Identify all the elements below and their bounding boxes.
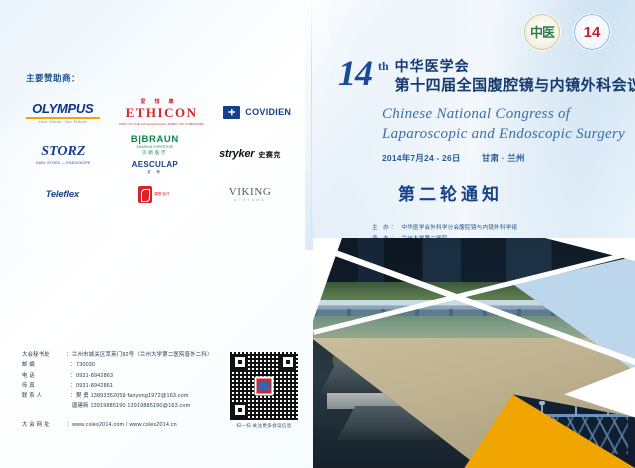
congress-date: 2014年7月24 - 26日 (382, 153, 461, 163)
contact-value-person-sub: 唐建新 13919885190 13919885190@163.com (72, 401, 222, 411)
contact-value-website[interactable]: www.csles2014.com / www.csles2014.cn (72, 420, 177, 430)
stryker-name-cn: 史赛克 (258, 150, 281, 160)
kangji-mark-icon (138, 186, 152, 203)
contact-key-secretariat: 大会秘书处 (22, 350, 66, 360)
contact-key-fax: 传 真 (22, 381, 70, 391)
bbraun-logo: B|BRAUN SHARING EXPERTISE 贝朗医疗 (131, 134, 179, 156)
chinese-medical-association-emblem: 中医 (524, 14, 560, 50)
contact-key-postcode: 邮 编 (22, 360, 70, 370)
contact-row-website: 大会网址 ： www.csles2014.com / www.csles2014… (22, 420, 222, 430)
sponsor-logo-row-2: STORZ KARL STORZ — ENDOSKOPE B|BRAUN SHA… (16, 132, 301, 176)
viking-wordmark: VIKING (229, 186, 272, 198)
organizer-label-host: 主 办： (372, 224, 398, 233)
aesculap-tagline: 蛇 牌 (147, 169, 162, 174)
aesculap-logo: AESCULAP 蛇 牌 (132, 160, 178, 174)
emblem-number: 14 (584, 24, 601, 41)
ethicon-name-cn: 爱惜康 (141, 98, 183, 105)
olympus-logo: OLYMPUS Your Vision, Our Future (26, 101, 100, 124)
contact-value-fax: 0931-8942861 (76, 381, 113, 391)
edition-suffix: th (378, 59, 389, 74)
contact-row-phone: 电 话 ： 0931-8942863 (22, 371, 222, 381)
edition-number: 14 (338, 57, 372, 89)
stryker-wordmark: stryker (219, 148, 254, 160)
viking-tagline: SYSTEMS (234, 198, 266, 202)
contact-key-website: 大会网址 (22, 420, 66, 430)
bbraun-tagline: SHARING EXPERTISE (137, 145, 174, 149)
qr-code-caption: 扫一扫 关注更多会议信息 (228, 423, 300, 429)
emblem-row: 中医 14 (524, 14, 610, 50)
contact-value-postcode: 730030 (76, 360, 95, 370)
contact-value-secretariat: 兰州市城关区萃英门82号（兰州大学第二医院普外二科） (72, 350, 213, 360)
contact-row-secretariat: 大会秘书处 ： 兰州市城关区萃英门82号（兰州大学第二医院普外二科） (22, 350, 222, 360)
congress-emblem: 14 (574, 14, 610, 50)
header-block: 14 th 中华医学会 第十四届全国腹腔镜与内镜外科会议 Chinese Nat… (338, 57, 630, 205)
aesculap-wordmark: AESCULAP (132, 160, 178, 169)
date-location-line: 2014年7月24 - 26日 甘肃 · 兰州 (382, 152, 630, 164)
sponsor-logo-row-1: OLYMPUS Your Vision, Our Future 爱惜康 ETHI… (16, 92, 301, 132)
kangji-name-cn: 康基 医疗 (154, 192, 169, 196)
qr-center-logo-icon (255, 377, 274, 396)
congress-title-cn: 第十四届全国腹腔镜与内镜外科会议 (395, 76, 635, 96)
ethicon-logo: 爱惜康 ETHICON PART OF THE Johnson&Johnson … (119, 98, 204, 126)
olympus-tagline: Your Vision, Our Future (38, 120, 87, 124)
olympus-accent-bar (26, 117, 100, 119)
title-cn-lines: 中华医学会 第十四届全国腹腔镜与内镜外科会议 (395, 58, 635, 95)
qr-code-block: 扫一扫 关注更多会议信息 (228, 352, 300, 429)
conference-brochure-poster: 中医 14 14 th 中华医学会 第十四届全国腹腔镜与内镜外科会议 Chine… (0, 0, 635, 468)
qr-finder-top-right (280, 354, 296, 370)
round-notice-title: 第二轮通知 (398, 180, 630, 205)
photo-collage (313, 238, 635, 468)
emblem-glyph: 14 (584, 25, 601, 40)
emblem-glyph: 中医 (530, 26, 554, 39)
sponsor-logo-grid: OLYMPUS Your Vision, Our Future 爱惜康 ETHI… (16, 92, 301, 212)
stryker-logo: stryker 史赛克 (219, 148, 281, 160)
viking-logo: VIKING SYSTEMS (229, 186, 272, 202)
contact-key-phone: 电 话 (22, 371, 70, 381)
panel-fold-line (311, 0, 312, 240)
congress-location: 甘肃 · 兰州 (482, 153, 525, 163)
teleflex-wordmark: Teleflex (46, 189, 79, 200)
teleflex-logo: Teleflex (46, 189, 79, 200)
covidien-cross-icon (223, 106, 240, 119)
storz-tagline: KARL STORZ — ENDOSKOPE (36, 161, 90, 165)
kangji-logo: 康基 医疗 (138, 186, 169, 203)
sponsor-logo-row-3: Teleflex 康基 医疗 VIKING SYSTEMS (16, 176, 301, 212)
contact-row-person: 联 系 人 ： 樊 勇 13893352059 fanyong1972@163.… (22, 391, 222, 401)
contact-value-phone: 0931-8942863 (76, 371, 113, 381)
contact-block: 大会秘书处 ： 兰州市城关区萃英门82号（兰州大学第二医院普外二科） 邮 编 ：… (22, 350, 222, 430)
sponsors-label: 主要赞助商： (26, 72, 80, 84)
bbraun-aesculap-group: B|BRAUN SHARING EXPERTISE 贝朗医疗 AESCULAP … (131, 134, 179, 174)
organizer-row-host: 主 办： 中华医学会外科学分会腹腔镜与内镜外科学组 (372, 224, 630, 233)
ethicon-wordmark: ETHICON (126, 105, 198, 121)
qr-finder-top-left (232, 354, 248, 370)
qr-finder-bottom-left (232, 402, 248, 418)
congress-title-en-line1: Chinese National Congress of (382, 104, 630, 124)
congress-title-en: Chinese National Congress of Laparoscopi… (382, 104, 630, 145)
bbraun-wordmark: B|BRAUN (131, 134, 179, 145)
karl-storz-logo: STORZ KARL STORZ — ENDOSKOPE (36, 144, 90, 165)
contact-value-person: 樊 勇 13893352059 fanyong1972@163.com (76, 391, 189, 401)
contact-row-fax: 传 真 ： 0931-8942861 (22, 381, 222, 391)
contact-key-person: 联 系 人 (22, 391, 70, 401)
covidien-wordmark: COVIDIEN (245, 107, 291, 117)
title-cn-row: 14 th 中华医学会 第十四届全国腹腔镜与内镜外科会议 (338, 57, 630, 95)
contact-row-postcode: 邮 编 ： 730030 (22, 360, 222, 370)
covidien-logo: COVIDIEN (223, 106, 291, 119)
bbraun-name-cn: 贝朗医疗 (142, 150, 168, 156)
ethicon-tagline: PART OF THE Johnson&Johnson FAMILY OF CO… (119, 122, 204, 126)
olympus-wordmark: OLYMPUS (32, 101, 93, 116)
wechat-qr-code[interactable] (230, 352, 298, 420)
organizer-value-host: 中华医学会外科学分会腹腔镜与内镜外科学组 (401, 224, 517, 233)
congress-title-en-line2: Laparoscopic and Endoscopic Surgery (382, 124, 630, 144)
organization-name-cn: 中华医学会 (395, 58, 635, 76)
storz-wordmark: STORZ (41, 144, 85, 160)
